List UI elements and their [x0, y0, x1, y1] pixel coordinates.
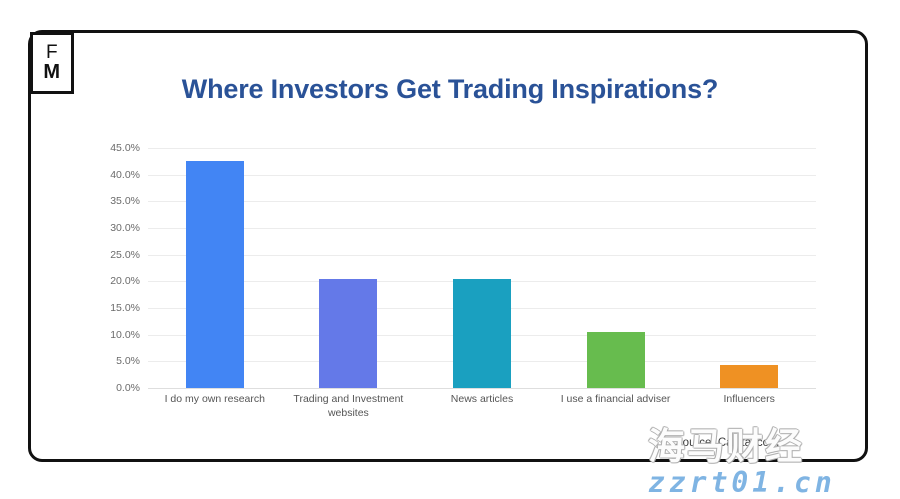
bar-slot	[549, 148, 683, 388]
bar-slot	[148, 148, 282, 388]
y-axis-tick-label: 45.0%	[110, 142, 140, 154]
y-axis-tick-label: 10.0%	[110, 329, 140, 341]
y-axis-tick-label: 25.0%	[110, 249, 140, 261]
bar-slot	[282, 148, 416, 388]
bar[interactable]	[587, 332, 645, 388]
y-axis-tick-label: 20.0%	[110, 275, 140, 287]
y-axis-tick-label: 35.0%	[110, 195, 140, 207]
publisher-watermark: 海马财经	[648, 416, 804, 470]
brand-logo-letter-f: F	[46, 43, 58, 62]
bar[interactable]	[720, 365, 778, 388]
brand-logo: F M	[30, 32, 74, 94]
brand-logo-letter-m: M	[43, 62, 60, 82]
gridline	[148, 388, 816, 389]
plot-area	[148, 148, 816, 388]
chart-title: Where Investors Get Trading Inspirations…	[0, 74, 900, 105]
bar-chart: 45.0%40.0%35.0%30.0%25.0%20.0%15.0%10.0%…	[96, 148, 816, 418]
y-axis-tick-label: 0.0%	[116, 382, 140, 394]
x-axis-category-label: Trading and Investment websites	[282, 392, 416, 420]
bars-container	[148, 148, 816, 388]
y-axis-tick-label: 30.0%	[110, 222, 140, 234]
bar[interactable]	[186, 161, 244, 388]
y-axis: 45.0%40.0%35.0%30.0%25.0%20.0%15.0%10.0%…	[96, 148, 144, 388]
x-axis-category-label: News articles	[415, 392, 549, 420]
bar-slot	[682, 148, 816, 388]
y-axis-tick-label: 40.0%	[110, 169, 140, 181]
y-axis-tick-label: 15.0%	[110, 302, 140, 314]
domain-watermark: zzrt01.cn	[648, 466, 836, 499]
bar-slot	[415, 148, 549, 388]
bar[interactable]	[319, 279, 377, 388]
x-axis-category-label: I do my own research	[148, 392, 282, 420]
bar[interactable]	[453, 279, 511, 388]
y-axis-tick-label: 5.0%	[116, 355, 140, 367]
